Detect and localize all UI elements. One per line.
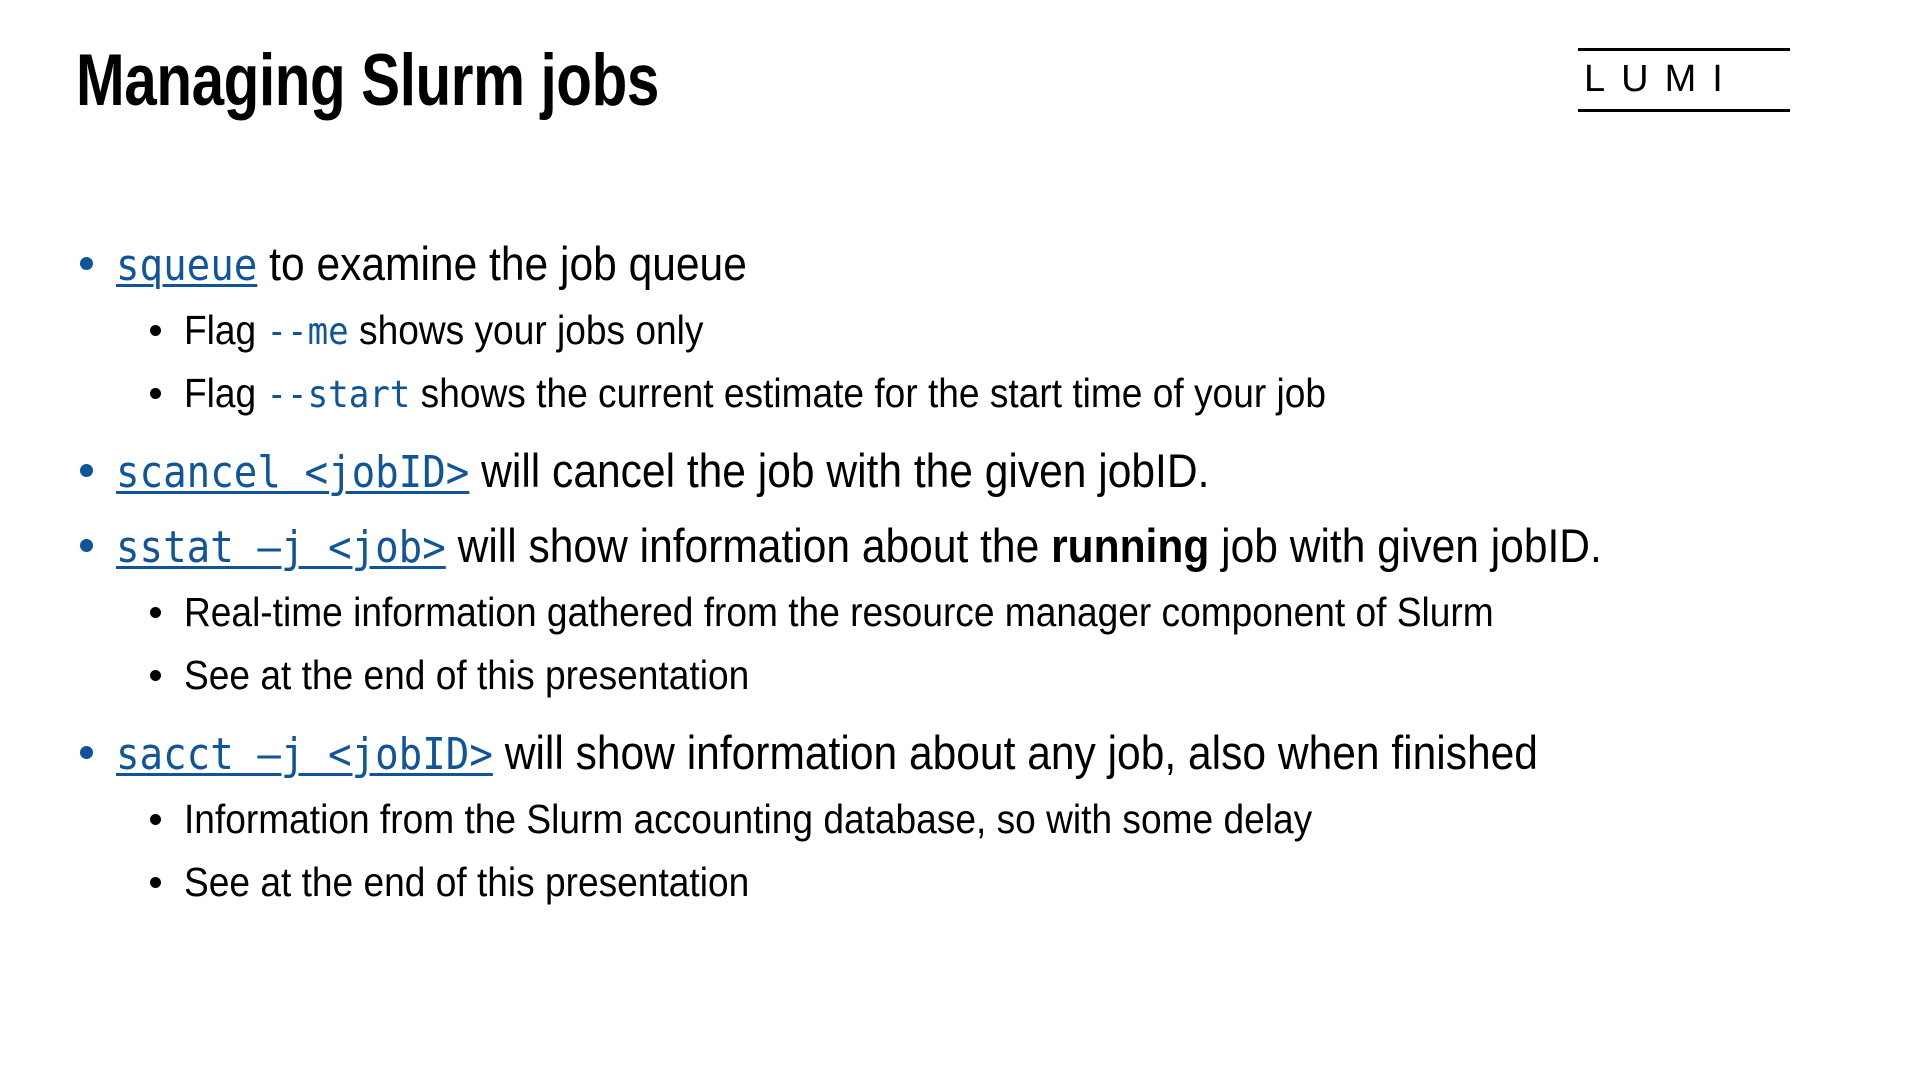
bullet-text: Real-time information gathered from the …	[184, 581, 1494, 644]
page-title: Managing Slurm jobs	[76, 44, 659, 117]
bullet-text: Flag --start shows the current estimate …	[184, 362, 1326, 426]
bullet-item-l1: scancel <jobID> will cancel the job with…	[0, 435, 1920, 506]
bullet-marker	[80, 464, 93, 477]
bullet-text: See at the end of this presentation	[184, 644, 749, 707]
plain-text: See at the end of this presentation	[184, 859, 749, 905]
plain-text: Flag	[184, 370, 266, 416]
bullet-marker	[80, 746, 93, 759]
logo-rule-top	[1578, 48, 1790, 51]
bullet-text: Information from the Slurm accounting da…	[184, 788, 1312, 851]
bullet-item-l2: Flag --start shows the current estimate …	[0, 362, 1920, 425]
lumi-logo: LUMI	[1578, 48, 1790, 112]
bullet-marker	[80, 257, 93, 270]
bullet-text: sstat –j <job> will show information abo…	[116, 510, 1602, 584]
bullet-item-l2: Flag --me shows your jobs only	[0, 299, 1920, 362]
bullet-item-l2: Real-time information gathered from the …	[0, 581, 1920, 644]
bullet-list: squeue to examine the job queueFlag --me…	[0, 228, 1920, 914]
bullet-marker	[80, 539, 93, 552]
bullet-text: squeue to examine the job queue	[116, 228, 747, 302]
plain-text: Real-time information gathered from the …	[184, 589, 1494, 635]
command-link[interactable]: sstat –j <job>	[116, 523, 446, 573]
emphasis-text: running	[1051, 519, 1209, 572]
bullet-item-l2: Information from the Slurm accounting da…	[0, 788, 1920, 851]
bullet-marker	[150, 325, 161, 336]
command-link[interactable]: squeue	[116, 241, 257, 291]
plain-text: shows your jobs only	[349, 307, 704, 353]
bullet-marker	[150, 814, 161, 825]
command-flag: --me	[266, 309, 348, 353]
bullet-item-l1: sacct –j <jobID> will show information a…	[0, 717, 1920, 788]
command-flag: --start	[266, 372, 410, 416]
logo-wordmark: LUMI	[1584, 57, 1784, 102]
plain-text: job with given jobID.	[1209, 519, 1601, 572]
bullet-marker	[150, 607, 161, 618]
command-link[interactable]: scancel <jobID>	[116, 448, 469, 498]
logo-rule-bottom	[1578, 109, 1790, 112]
bullet-marker	[150, 388, 161, 399]
bullet-item-l2: See at the end of this presentation	[0, 644, 1920, 707]
bullet-item-l1: sstat –j <job> will show information abo…	[0, 510, 1920, 581]
bullet-item-l2: See at the end of this presentation	[0, 851, 1920, 914]
bullet-text: scancel <jobID> will cancel the job with…	[116, 435, 1209, 509]
plain-text: See at the end of this presentation	[184, 652, 749, 698]
bullet-text: sacct –j <jobID> will show information a…	[116, 717, 1538, 791]
plain-text: Information from the Slurm accounting da…	[184, 796, 1312, 842]
plain-text: will show information about any job, als…	[493, 726, 1538, 779]
plain-text: will show information about the	[446, 519, 1051, 572]
plain-text: to examine the job queue	[257, 237, 747, 290]
bullet-text: See at the end of this presentation	[184, 851, 749, 914]
plain-text: Flag	[184, 307, 266, 353]
bullet-marker	[150, 877, 161, 888]
plain-text: shows the current estimate for the start…	[410, 370, 1326, 416]
bullet-text: Flag --me shows your jobs only	[184, 299, 703, 363]
bullet-item-l1: squeue to examine the job queue	[0, 228, 1920, 299]
slide-canvas: Managing Slurm jobs LUMI squeue to exami…	[0, 0, 1920, 1080]
command-link[interactable]: sacct –j <jobID>	[116, 730, 493, 780]
plain-text: will cancel the job with the given jobID…	[469, 444, 1209, 497]
bullet-marker	[150, 670, 161, 681]
